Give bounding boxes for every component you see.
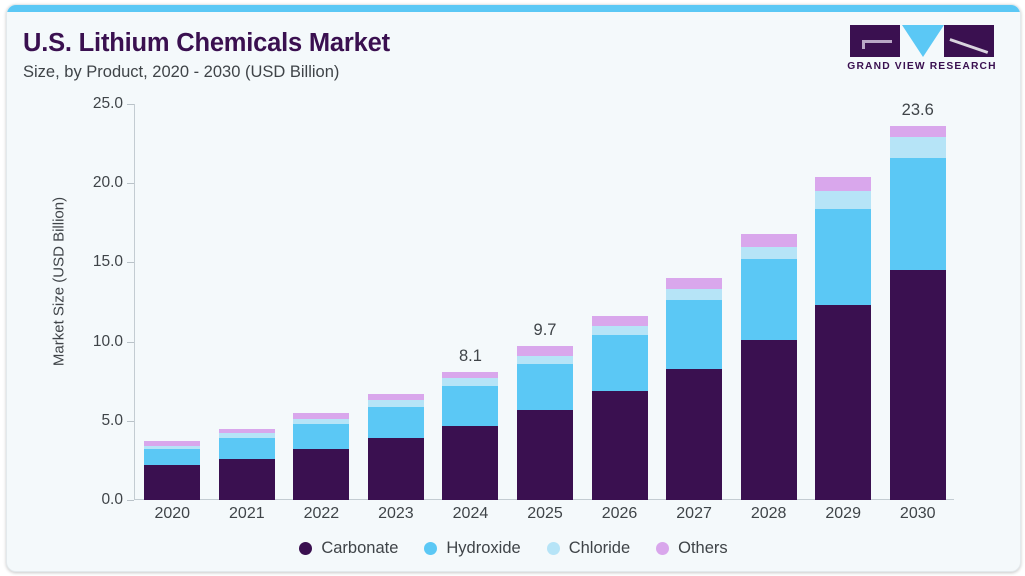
bar-segment-chloride[interactable] (666, 289, 722, 300)
legend-label: Hydroxide (446, 539, 520, 558)
bar-segment-others[interactable] (144, 441, 200, 446)
bar-segment-others[interactable] (368, 394, 424, 400)
bar-2021[interactable] (219, 429, 275, 500)
legend-item-hydroxide[interactable]: Hydroxide (424, 539, 520, 558)
bar-2025[interactable]: 9.7 (517, 346, 573, 500)
bar-value-label: 8.1 (425, 347, 515, 366)
bar-segment-carbonate[interactable] (368, 438, 424, 500)
bar-segment-others[interactable] (293, 413, 349, 419)
bar-2027[interactable] (666, 278, 722, 500)
y-tick-mark (127, 421, 134, 422)
bar-segment-chloride[interactable] (592, 326, 648, 336)
bar-segment-carbonate[interactable] (592, 391, 648, 500)
bar-segment-carbonate[interactable] (741, 340, 797, 500)
y-tick-label: 20.0 (67, 174, 123, 192)
y-tick-label: 0.0 (67, 491, 123, 509)
bar-segment-hydroxide[interactable] (815, 209, 871, 306)
bar-segment-chloride[interactable] (890, 137, 946, 158)
y-tick-label: 25.0 (67, 95, 123, 113)
legend-item-carbonate[interactable]: Carbonate (299, 539, 398, 558)
y-tick-mark (127, 500, 134, 501)
legend-swatch-icon (299, 542, 312, 555)
bar-segment-carbonate[interactable] (144, 465, 200, 500)
bar-segment-chloride[interactable] (368, 400, 424, 406)
y-tick-label: 5.0 (67, 412, 123, 430)
bar-segment-hydroxide[interactable] (517, 364, 573, 410)
bar-value-label: 23.6 (873, 101, 963, 120)
y-tick-label: 10.0 (67, 333, 123, 351)
legend-swatch-icon (547, 542, 560, 555)
y-axis-label: Market Size (USD Billion) (51, 182, 68, 382)
bar-segment-hydroxide[interactable] (442, 386, 498, 426)
x-tick-label-2030: 2030 (873, 505, 963, 523)
legend-item-chloride[interactable]: Chloride (547, 539, 630, 558)
legend-label: Others (678, 539, 728, 558)
bar-segment-carbonate[interactable] (517, 410, 573, 500)
bar-segment-others[interactable] (517, 346, 573, 356)
bar-segment-hydroxide[interactable] (219, 438, 275, 459)
bar-segment-hydroxide[interactable] (592, 335, 648, 390)
bar-2028[interactable] (741, 234, 797, 500)
bar-segment-carbonate[interactable] (666, 369, 722, 500)
bar-segment-chloride[interactable] (442, 378, 498, 386)
chart-legend: CarbonateHydroxideChlorideOthers (7, 539, 1020, 558)
y-tick-mark (127, 342, 134, 343)
bar-segment-others[interactable] (442, 372, 498, 378)
bar-2022[interactable] (293, 413, 349, 500)
bar-segment-others[interactable] (890, 126, 946, 137)
legend-swatch-icon (424, 542, 437, 555)
legend-label: Chloride (569, 539, 630, 558)
plot-area: Market Size (USD Billion) 0.05.010.015.0… (7, 5, 1020, 571)
bar-segment-hydroxide[interactable] (741, 259, 797, 340)
bar-group: 8.19.723.6 (135, 104, 955, 500)
bar-segment-carbonate[interactable] (219, 459, 275, 500)
y-tick-mark (127, 262, 134, 263)
bar-segment-carbonate[interactable] (293, 449, 349, 500)
bar-2020[interactable] (144, 441, 200, 500)
bar-segment-others[interactable] (592, 316, 648, 326)
bar-segment-chloride[interactable] (517, 356, 573, 364)
bar-2023[interactable] (368, 394, 424, 500)
bar-segment-chloride[interactable] (815, 191, 871, 208)
chart-card: U.S. Lithium Chemicals Market Size, by P… (6, 4, 1021, 572)
bar-segment-carbonate[interactable] (815, 305, 871, 500)
bar-segment-chloride[interactable] (219, 433, 275, 438)
bar-segment-others[interactable] (666, 278, 722, 289)
bar-segment-hydroxide[interactable] (666, 300, 722, 368)
bar-segment-carbonate[interactable] (890, 270, 946, 500)
bar-segment-carbonate[interactable] (442, 426, 498, 500)
bar-segment-others[interactable] (815, 177, 871, 191)
legend-swatch-icon (656, 542, 669, 555)
bar-segment-hydroxide[interactable] (144, 449, 200, 465)
y-tick-mark (127, 183, 134, 184)
bar-value-label: 9.7 (500, 321, 590, 340)
legend-label: Carbonate (321, 539, 398, 558)
bar-segment-chloride[interactable] (741, 247, 797, 260)
bar-segment-hydroxide[interactable] (890, 158, 946, 270)
bar-segment-chloride[interactable] (144, 446, 200, 449)
y-tick-label: 15.0 (67, 253, 123, 271)
bar-segment-chloride[interactable] (293, 419, 349, 424)
bar-2029[interactable] (815, 177, 871, 500)
bar-segment-hydroxide[interactable] (293, 424, 349, 449)
bar-segment-others[interactable] (741, 234, 797, 247)
bar-2024[interactable]: 8.1 (442, 372, 498, 500)
bar-2030[interactable]: 23.6 (890, 126, 946, 500)
bar-segment-hydroxide[interactable] (368, 407, 424, 439)
y-tick-mark (127, 104, 134, 105)
bar-segment-others[interactable] (219, 429, 275, 434)
legend-item-others[interactable]: Others (656, 539, 728, 558)
bar-2026[interactable] (592, 316, 648, 500)
